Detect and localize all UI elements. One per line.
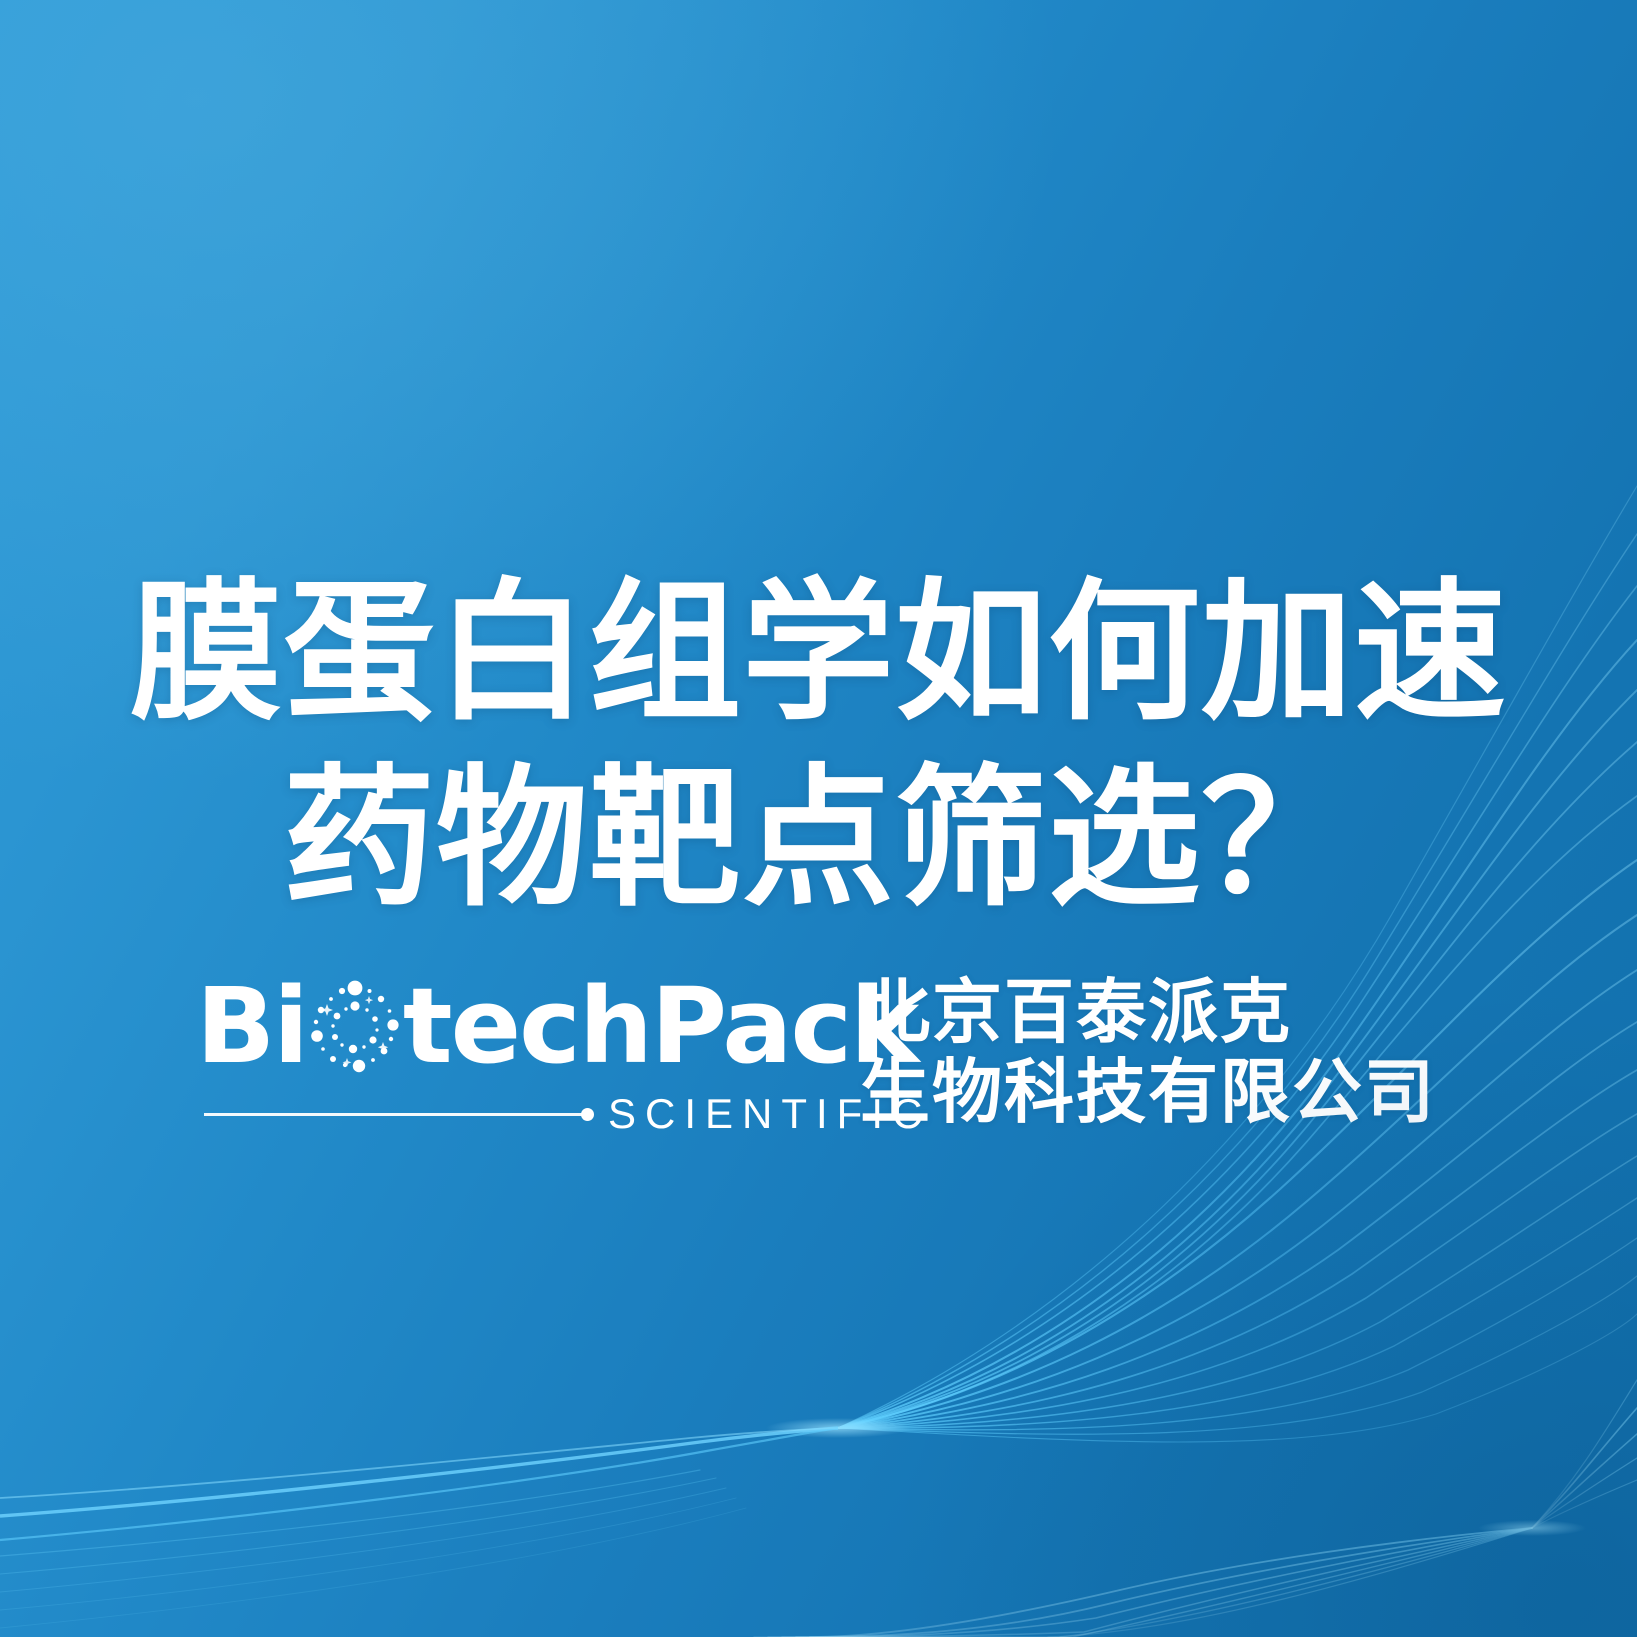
headline: 膜蛋白组学如何加速 药物靶点筛选？ xyxy=(0,560,1637,932)
molecule-ring-o-icon xyxy=(307,980,403,1076)
tagline-rule xyxy=(204,1113,582,1116)
brand-wordmark: Bi xyxy=(196,974,917,1078)
tagline-dot-icon xyxy=(581,1108,594,1121)
brand-tagline-row: SCIENTIFIC xyxy=(204,1094,846,1134)
poster-canvas: 膜蛋白组学如何加速 药物靶点筛选？ Bi xyxy=(0,0,1637,1637)
company-name-cn-line-1: 北京百泰派克 xyxy=(860,972,1436,1052)
company-name-cn: 北京百泰派克 生物科技有限公司 xyxy=(860,966,1436,1132)
headline-line-1: 膜蛋白组学如何加速 xyxy=(0,560,1637,746)
company-name-cn-line-2: 生物科技有限公司 xyxy=(860,1052,1436,1132)
biotechpack-logo: Bi xyxy=(196,966,846,1136)
brand-lockup: Bi xyxy=(196,966,1456,1136)
wordmark-suffix: techPack xyxy=(403,974,917,1078)
brand-tagline: SCIENTIFIC xyxy=(608,1093,931,1135)
wordmark-prefix: Bi xyxy=(196,974,307,1078)
headline-line-2: 药物靶点筛选？ xyxy=(0,746,1637,932)
